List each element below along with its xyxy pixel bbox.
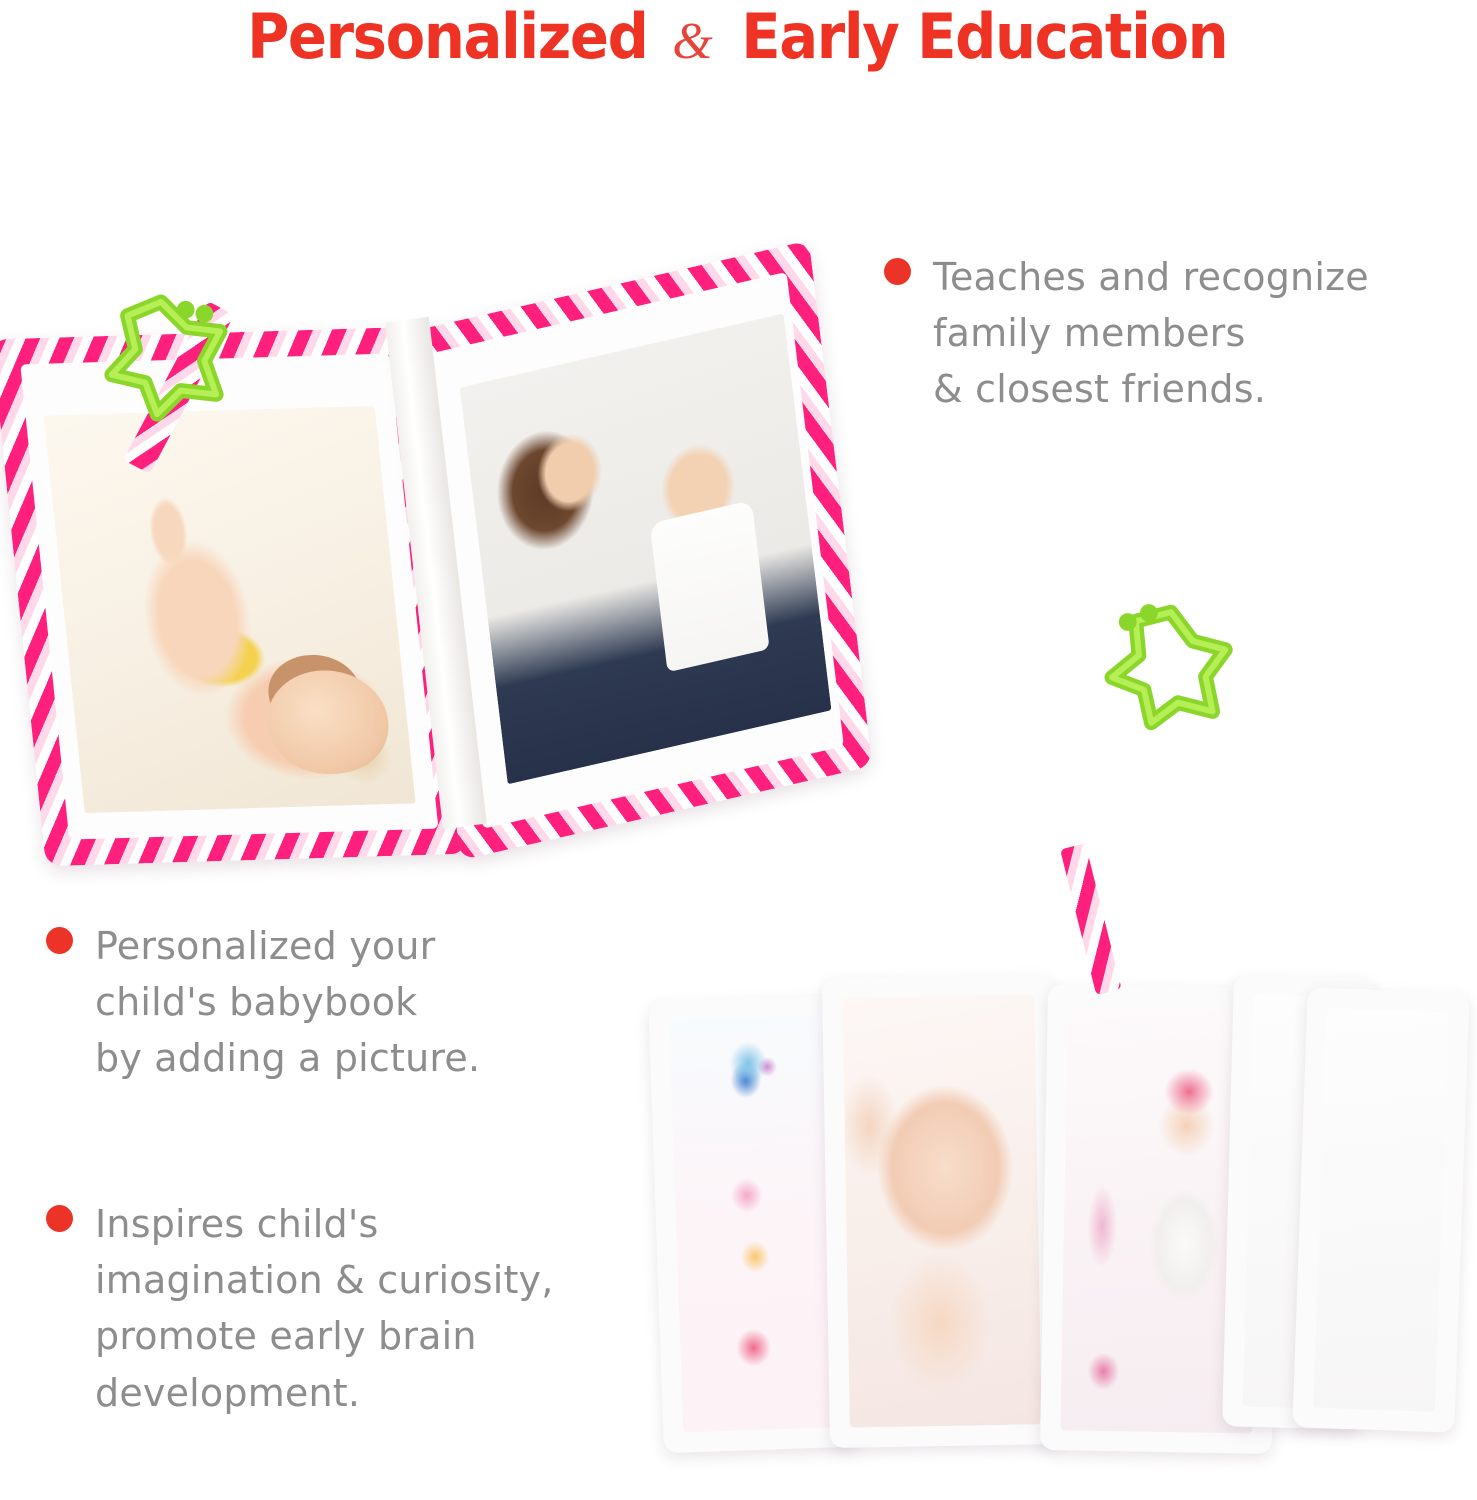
photo-mom-and-toddler <box>460 313 832 784</box>
page-title: Personalized&Early Education <box>0 6 1477 68</box>
feature-bullet-personalize-babybook: Personalized your child's babybook by ad… <box>46 918 566 1087</box>
green-star-teether-icon-2 <box>1087 593 1242 743</box>
book2-page-blank-2-inner <box>1313 1008 1449 1412</box>
feature-bullet-text: Inspires child's imagination & curiosity… <box>95 1196 554 1421</box>
red-dot-icon <box>46 927 73 954</box>
page-title-part-2: Early Education <box>741 6 1227 68</box>
page-title-part-1: Personalized <box>247 6 647 68</box>
product-photo-open-book <box>10 168 920 858</box>
feature-bullet-inspires-imagination: Inspires child's imagination & curiosity… <box>46 1196 586 1421</box>
red-dot-icon <box>884 258 911 285</box>
product-photo-fanned-book <box>640 790 1470 1470</box>
feature-bullet-text: Teaches and recognize family members & c… <box>933 249 1369 418</box>
striped-hanging-strap-2 <box>1060 843 1122 995</box>
green-star-teether-icon <box>94 292 232 424</box>
book2-page-sleeping-baby-inner <box>842 994 1041 1427</box>
photo-sleeping-newborn <box>842 994 1041 1427</box>
book-left-page-inner <box>20 354 438 840</box>
book2-page-princess-inner <box>669 1015 839 1432</box>
book2-page-sleeping-baby <box>822 974 1062 1448</box>
page-title-ampersand: & <box>662 13 722 70</box>
book2-page-blank-2 <box>1292 987 1469 1432</box>
feature-bullet-teaches-family: Teaches and recognize family members & c… <box>884 249 1444 418</box>
photo-baby-yellow-outfit <box>44 406 416 813</box>
infographic-page: Personalized&Early Education <box>0 0 1477 1500</box>
photo-empty-sleeve-2 <box>1313 1008 1449 1412</box>
book-right-page-inner <box>426 272 844 829</box>
photo-cartoon-princess-stickers <box>669 1015 839 1432</box>
red-dot-icon <box>46 1205 73 1232</box>
feature-bullet-text: Personalized your child's babybook by ad… <box>95 918 480 1087</box>
